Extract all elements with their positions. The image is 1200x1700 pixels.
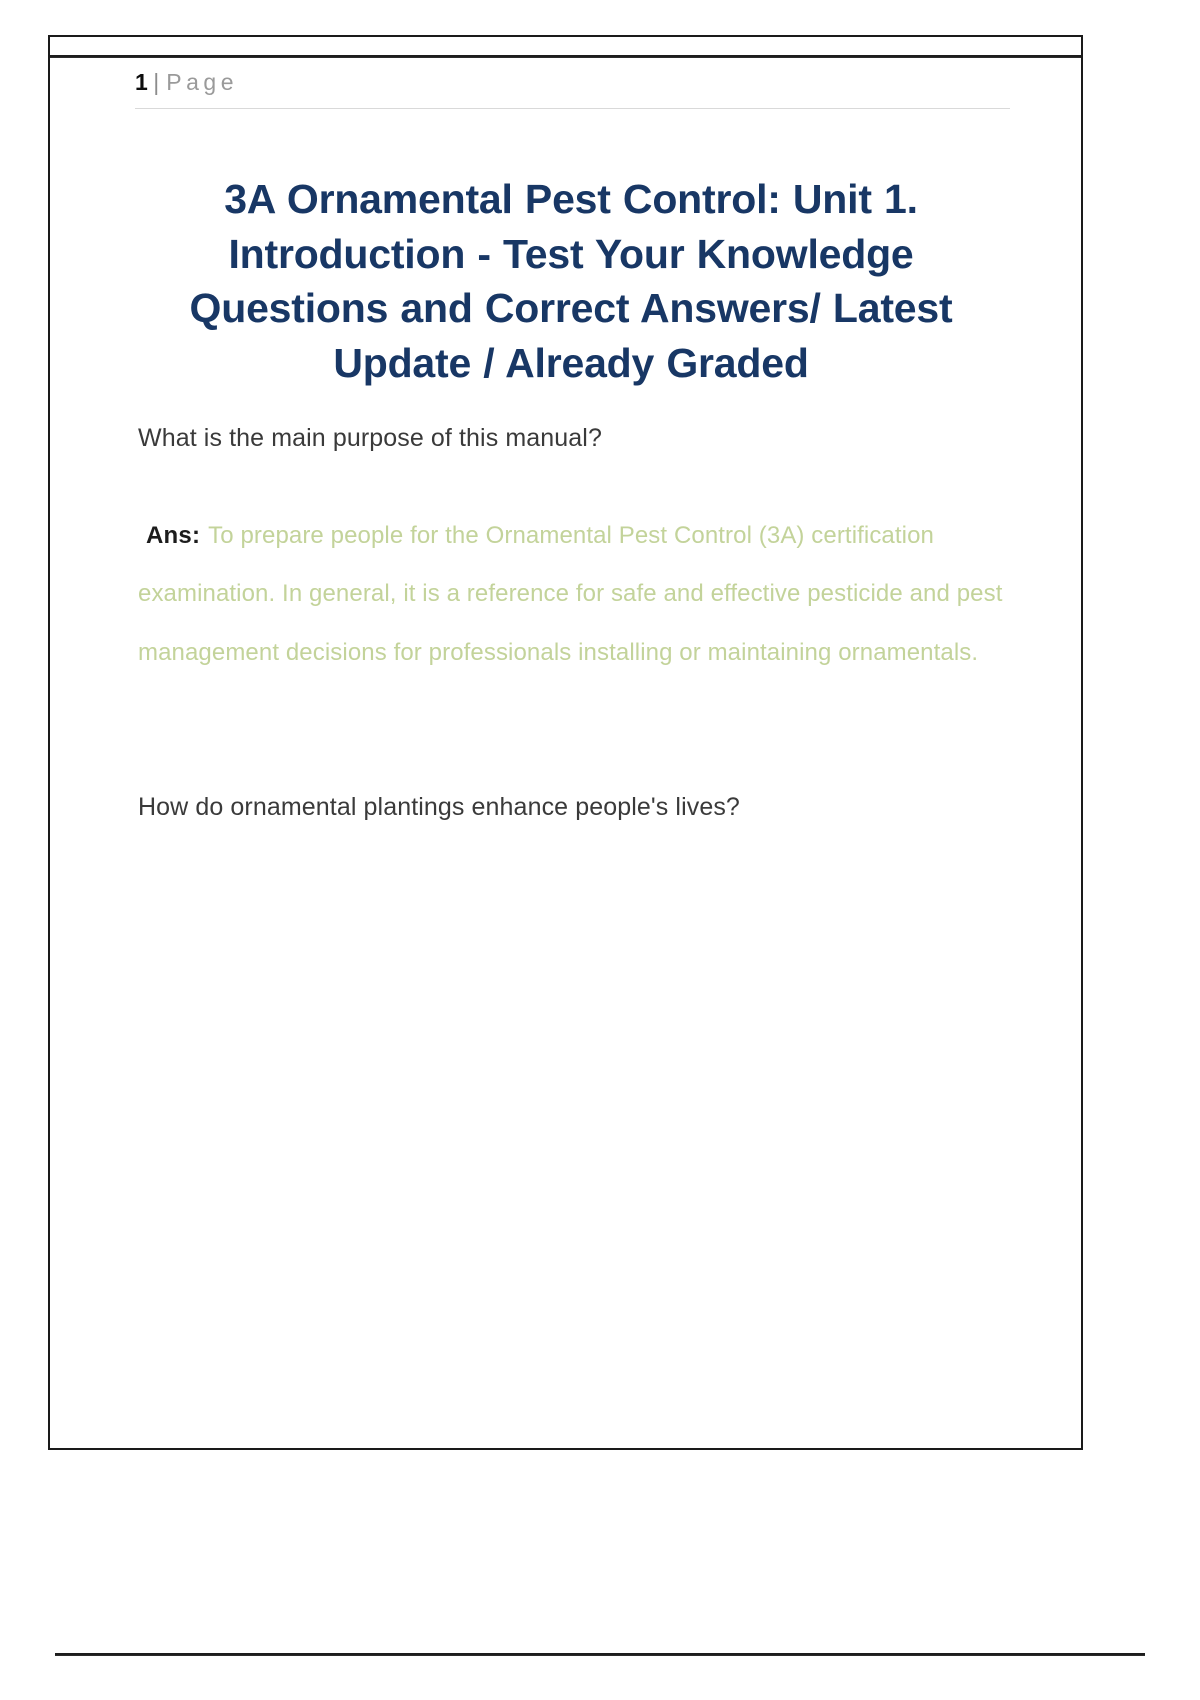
title-line-2: Introduction - Test Your Knowledge (228, 231, 913, 277)
title-line-3: Questions and Correct Answers/ Latest (190, 285, 953, 331)
question-2: How do ornamental plantings enhance peop… (138, 791, 1038, 824)
answer-1-block: Ans:To prepare people for the Ornamental… (138, 507, 1038, 683)
header-page-number: 1 (135, 69, 148, 95)
document-body: What is the main purpose of this manual?… (138, 422, 1038, 848)
answer-1-text: To prepare people for the Ornamental Pes… (138, 522, 1002, 667)
footer-double-rule (55, 1653, 1145, 1656)
top-double-rule (50, 55, 1081, 58)
title-line-4: Update / Already Graded (333, 340, 808, 386)
page-title: 3A Ornamental Pest Control: Unit 1. Intr… (140, 172, 1002, 390)
running-header: 1|Page (135, 69, 1010, 109)
question-1: What is the main purpose of this manual? (138, 422, 1038, 455)
header-separator: | (153, 69, 159, 95)
answer-label: Ans: (146, 522, 200, 549)
document-page: 1|Page 3A Ornamental Pest Control: Unit … (48, 35, 1083, 1450)
header-page-label: Page (166, 69, 238, 95)
title-line-1: 3A Ornamental Pest Control: Unit 1. (224, 176, 918, 222)
